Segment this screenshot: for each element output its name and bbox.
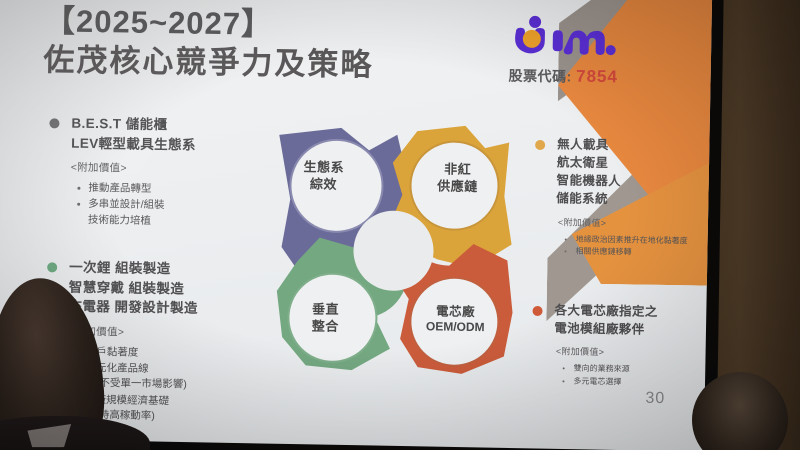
cycle-diagram: 生態系 綜效 非紅 供應鏈 垂直 整合 電芯廠 OEM/ODM xyxy=(266,121,520,377)
list-item: 多串並設計/組裝 xyxy=(76,196,263,215)
uim-logo-icon xyxy=(507,15,620,67)
stock-code-value: 7854 xyxy=(576,67,618,87)
content-block-cell-maker: 各大電芯廠指定之 電池模組廠夥伴 <附加價值> 雙向的業務來源 多元電芯選擇 xyxy=(531,301,707,390)
block-heading-line: 航太衛星 xyxy=(557,153,710,174)
block-heading-line: 電池模組廠夥伴 xyxy=(554,319,707,340)
diagram-label-line: OEM/ODM xyxy=(412,319,498,336)
page-title: 佐茂核心競爭力及策略 xyxy=(43,41,374,85)
content-block-best: B.E.S.T 儲能櫃 LEV輕型載具生態系 <附加價值> 推動產品轉型 多串並… xyxy=(48,113,265,231)
block-heading-line: 無人載具 xyxy=(557,135,710,156)
block-heading-line: 智能機器人 xyxy=(556,172,709,193)
diagram-label-top-right: 非紅 供應鏈 xyxy=(418,161,497,196)
projected-slide: 【2025~2027】 佐茂核心競爭力及策略 xyxy=(0,0,712,450)
diagram-label-bottom-left: 垂直 整合 xyxy=(286,301,365,336)
diagram-label-line: 垂直 xyxy=(286,301,364,319)
added-value-label: <附加價值> xyxy=(556,345,707,360)
list-item: 多元電芯選擇 xyxy=(561,375,706,390)
block-heading-line: LEV輕型載具生態系 xyxy=(71,133,264,156)
list-item: 多元化產品線 xyxy=(73,360,270,379)
bullet-dot-gold-icon xyxy=(535,140,545,150)
diagram-label-top-left: 生態系 綜效 xyxy=(284,159,363,194)
added-value-label: <附加價值> xyxy=(71,160,264,178)
block-heading-line: 充電器 開發設計製造 xyxy=(68,297,271,320)
bullet-dot-red-icon xyxy=(532,306,542,316)
bullet-dot-green-icon xyxy=(47,262,57,272)
list-item: 相關供應鏈移轉 xyxy=(563,245,708,260)
slide-subtitle-years: 【2025~2027】 xyxy=(44,3,375,44)
block-heading-line: 儲能系統 xyxy=(556,190,709,211)
content-block-uav: 無人載具 航太衛星 智能機器人 儲能系統 <附加價值> 地緣政治因素推升在地化黏… xyxy=(533,135,710,260)
diagram-label-line: 整合 xyxy=(286,318,364,336)
value-list: 推動產品轉型 多串並設計/組裝 技術能力培植 xyxy=(76,180,264,231)
diagram-label-line: 非紅 xyxy=(419,161,497,179)
block-heading-line: 各大電芯廠指定之 xyxy=(554,301,707,322)
value-list: 地緣政治因素推升在地化黏著度 相關供應鏈移轉 xyxy=(563,233,708,260)
diagram-label-line: 電芯廠 xyxy=(412,303,498,321)
diagram-label-line: 綜效 xyxy=(284,176,362,194)
slide-title-block: 【2025~2027】 佐茂核心競爭力及策略 xyxy=(43,3,374,85)
value-list: 雙向的業務來源 多元電芯選擇 xyxy=(561,363,706,390)
added-value-label: <附加價值> xyxy=(558,215,709,230)
page-number: 30 xyxy=(645,390,665,408)
company-logo-block: 股票代碼: 7854 xyxy=(498,14,629,87)
stock-code-label: 股票代碼: xyxy=(508,68,571,85)
block-heading-line: B.E.S.T 儲能櫃 xyxy=(71,114,264,137)
stock-code-line: 股票代碼: 7854 xyxy=(498,65,628,87)
diagram-label-line: 生態系 xyxy=(285,159,363,177)
diagram-label-line: 供應鏈 xyxy=(418,178,496,196)
block-heading-line: 一次鋰 組裝製造 xyxy=(69,258,272,281)
diagram-label-bottom-right: 電芯廠 OEM/ODM xyxy=(412,303,498,336)
presentation-photo: 【2025~2027】 佐茂核心競爭力及策略 xyxy=(0,0,800,450)
bullet-dot-gray-icon xyxy=(49,118,59,128)
added-value-label: <附加價值> xyxy=(68,323,271,341)
list-item-subline: 技術能力培植 xyxy=(76,212,263,231)
